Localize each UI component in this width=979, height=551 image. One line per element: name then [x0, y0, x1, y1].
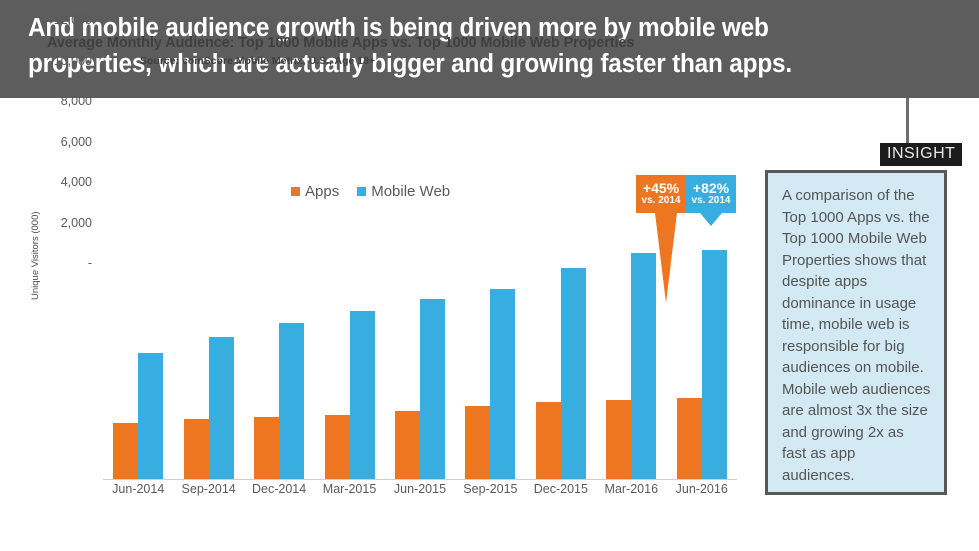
x-axis-label: Mar-2016: [596, 482, 666, 496]
bar-mobile-web: [702, 250, 727, 479]
y-axis-tick: 6,000: [61, 135, 92, 149]
x-axis-labels: Jun-2014Sep-2014Dec-2014Mar-2015Jun-2015…: [103, 482, 737, 496]
chart-source: Source: comScore Mobile Metrix, U.S., Ag…: [140, 55, 375, 67]
growth-badge-apps: +45% vs. 2014: [636, 175, 686, 213]
bar-apps: [677, 398, 702, 479]
bar-group: [455, 216, 525, 479]
growth-badge-apps-pct: +45%: [643, 181, 679, 195]
y-axis-tick: -: [88, 256, 92, 270]
bar-mobile-web: [138, 353, 163, 479]
legend-item-mobile-web: Mobile Web: [357, 183, 450, 200]
bar-mobile-web: [420, 299, 445, 479]
growth-badge-mobile-web-pct: +82%: [693, 181, 729, 195]
bar-apps: [254, 417, 279, 479]
y-axis-tick: 10,000: [54, 54, 92, 68]
y-axis-tick: 8,000: [61, 94, 92, 108]
legend-swatch-mobile-web: [357, 187, 366, 196]
x-axis-label: Sep-2015: [455, 482, 525, 496]
bar-group: [667, 216, 737, 479]
y-axis-tick: 12,000: [54, 13, 92, 27]
bar-apps: [184, 419, 209, 479]
y-axis-tick: 4,000: [61, 175, 92, 189]
x-axis-label: Jun-2014: [103, 482, 173, 496]
badge-pointer-apps: [655, 213, 677, 303]
bar-apps: [325, 415, 350, 479]
bar-groups: [103, 216, 737, 479]
insight-connector-line: [906, 98, 909, 146]
growth-badge-mobile-web: +82% vs. 2014: [686, 175, 736, 213]
bar-mobile-web: [561, 268, 586, 479]
bar-apps: [606, 400, 631, 479]
bar-mobile-web: [490, 289, 515, 479]
bar-mobile-web: [350, 311, 375, 479]
x-axis-line: [103, 479, 737, 480]
bar-group: [526, 216, 596, 479]
legend-swatch-apps: [291, 187, 300, 196]
bar-group: [244, 216, 314, 479]
plot-area: [103, 216, 737, 479]
bar-mobile-web: [631, 253, 656, 479]
legend-label-mobile-web: Mobile Web: [371, 183, 450, 200]
insight-text: A comparison of the Top 1000 Apps vs. th…: [782, 185, 932, 486]
bar-mobile-web: [279, 323, 304, 479]
insight-panel: A comparison of the Top 1000 Apps vs. th…: [765, 170, 947, 495]
x-axis-label: Jun-2015: [385, 482, 455, 496]
y-axis-tick: 2,000: [61, 216, 92, 230]
bar-group: [314, 216, 384, 479]
slide: And mobile audience growth is being driv…: [0, 0, 979, 551]
bar-apps: [113, 423, 138, 479]
badge-pointer-mobile-web: [700, 213, 722, 226]
bar-group: [173, 216, 243, 479]
x-axis-label: Dec-2015: [526, 482, 596, 496]
chart-legend: Apps Mobile Web: [291, 183, 450, 200]
x-axis-label: Mar-2015: [314, 482, 384, 496]
bar-apps: [395, 411, 420, 479]
legend-item-apps: Apps: [291, 183, 339, 200]
x-axis-label: Dec-2014: [244, 482, 314, 496]
bar-apps: [536, 402, 561, 479]
y-axis-ticks: -2,0004,0006,0008,00010,00012,000: [40, 0, 92, 263]
bar-group: [103, 216, 173, 479]
growth-badge-mobile-web-sub: vs. 2014: [692, 195, 731, 207]
bar-apps: [465, 406, 490, 479]
insight-tag: INSIGHT: [880, 143, 962, 166]
x-axis-label: Sep-2014: [173, 482, 243, 496]
growth-badges: +45% vs. 2014 +82% vs. 2014: [636, 175, 736, 213]
bar-group: [385, 216, 455, 479]
growth-badge-apps-sub: vs. 2014: [642, 195, 681, 207]
chart-title: Average Monthly Audience: Top 1000 Mobil…: [47, 35, 634, 51]
bar-mobile-web: [209, 337, 234, 479]
legend-label-apps: Apps: [305, 183, 339, 200]
footer: comScore © comScore, Inc. Proprietary. 1…: [0, 508, 979, 551]
x-axis-label: Jun-2016: [667, 482, 737, 496]
